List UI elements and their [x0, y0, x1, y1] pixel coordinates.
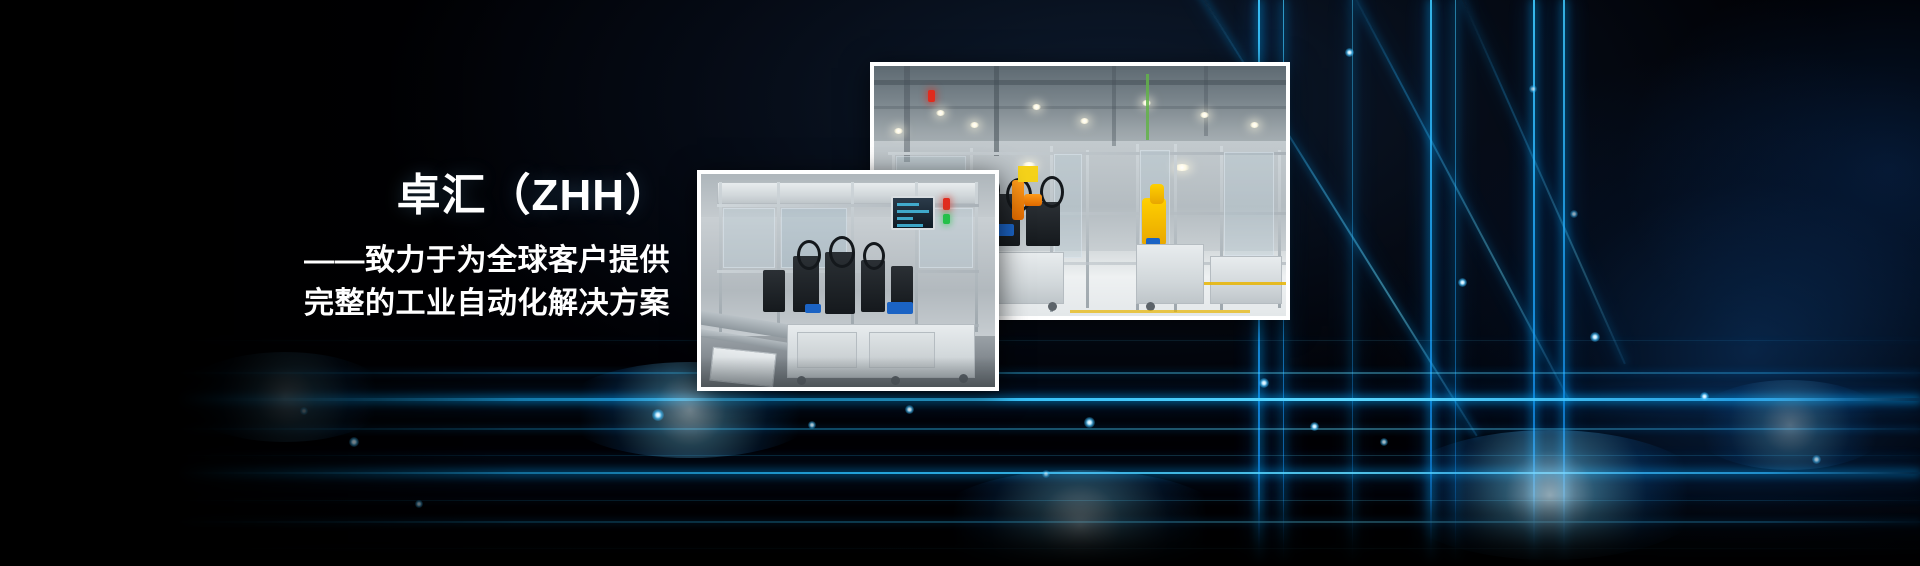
vertical-light-6	[1563, 0, 1565, 566]
horizontal-light-7	[0, 521, 1920, 523]
horizontal-light-2	[0, 398, 1920, 401]
vertical-light-5	[1533, 0, 1535, 566]
machine-hmi-screen	[891, 196, 935, 230]
horizontal-light-6	[0, 500, 1920, 501]
vertical-light-4	[1455, 0, 1456, 566]
hero-copy: 卓汇（ZHH） ——致力于为全球客户提供 完整的工业自动化解决方案	[250, 170, 670, 325]
vertical-light-7	[1352, 0, 1353, 566]
subtitle-line-2: 完整的工业自动化解决方案	[250, 283, 670, 326]
horizontal-light-8	[0, 548, 1920, 549]
subtitle-line-1: ——致力于为全球客户提供	[250, 240, 670, 283]
horizontal-light-4	[0, 455, 1920, 456]
page-title: 卓汇（ZHH）	[250, 170, 670, 222]
photo-assembly-machine-front	[697, 170, 999, 391]
vertical-light-3	[1430, 0, 1432, 566]
hero-banner: 卓汇（ZHH） ——致力于为全球客户提供 完整的工业自动化解决方案	[0, 0, 1920, 566]
horizontal-light-3	[0, 428, 1920, 430]
horizontal-light-5	[0, 472, 1920, 474]
